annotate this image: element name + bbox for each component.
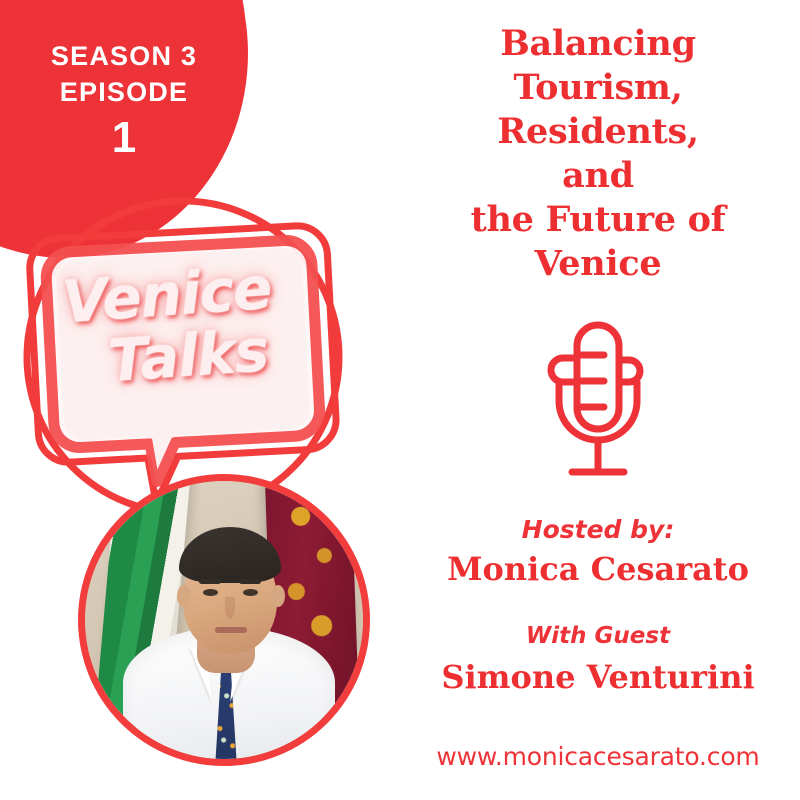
- microphone-holder: [396, 320, 800, 488]
- guest-ear-right: [271, 585, 285, 607]
- title-line-6: Venice: [402, 242, 794, 286]
- guest-eye-left: [203, 589, 218, 596]
- title-line-4: and: [402, 154, 794, 198]
- season-episode-badge: SEASON 3 EPISODE 1: [14, 38, 234, 164]
- website-url[interactable]: www.monicacesarato.com: [396, 742, 800, 771]
- microphone-icon: [546, 320, 650, 488]
- title-line-3: Residents,: [402, 110, 794, 154]
- season-label: SEASON 3: [14, 38, 234, 74]
- right-content-column: Balancing Tourism, Residents, and the Fu…: [396, 0, 800, 800]
- guest-ear-left: [177, 585, 191, 607]
- host-name: Monica Cesarato: [396, 548, 800, 590]
- host-label: Hosted by:: [396, 514, 800, 546]
- guest-photo: [78, 474, 370, 766]
- speech-bubble-logo-icon: [4, 196, 362, 518]
- guest-eyebrow-right: [239, 579, 261, 584]
- title-line-5: the Future of: [402, 198, 794, 242]
- guest-eyebrow-left: [199, 579, 221, 584]
- podcast-cover-art: SEASON 3 EPISODE 1 Venice Talks: [0, 0, 800, 800]
- guest-photo-image: [85, 481, 363, 759]
- episode-number: 1: [14, 112, 234, 164]
- guest-name: Simone Venturini: [396, 656, 800, 698]
- episode-title: Balancing Tourism, Residents, and the Fu…: [396, 22, 800, 286]
- venice-talks-logo: Venice Talks: [4, 196, 362, 518]
- episode-label: EPISODE: [14, 74, 234, 110]
- guest-nose: [225, 597, 235, 619]
- credits-block: Hosted by: Monica Cesarato With Guest Si…: [396, 514, 800, 698]
- guest-label: With Guest: [396, 620, 800, 652]
- guest-mouth: [215, 627, 247, 633]
- title-line-1: Balancing: [402, 22, 794, 66]
- title-line-2: Tourism,: [402, 66, 794, 110]
- guest-eye-right: [243, 589, 258, 596]
